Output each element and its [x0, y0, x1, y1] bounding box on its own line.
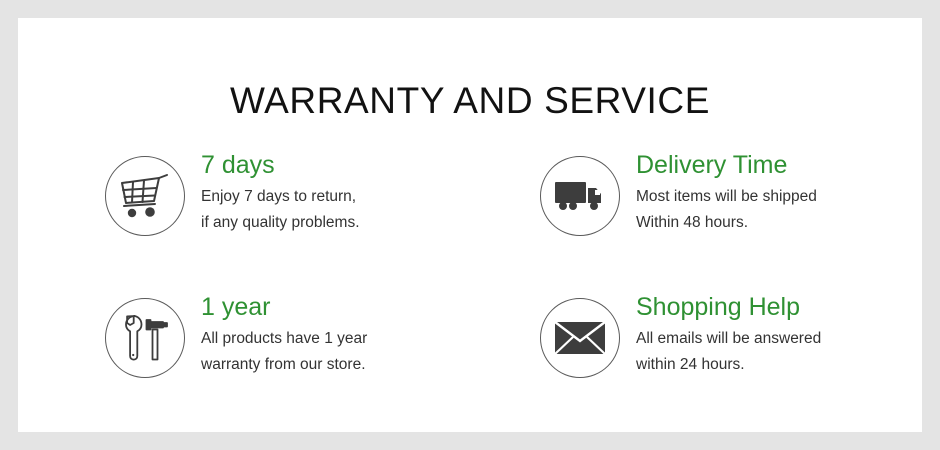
- delivery-truck-icon: [540, 156, 620, 236]
- feature-text: 1 year All products have 1 year warranty…: [201, 292, 505, 378]
- features-grid: 7 days Enjoy 7 days to return, if any qu…: [18, 150, 922, 434]
- feature-text: 7 days Enjoy 7 days to return, if any qu…: [201, 150, 505, 236]
- feature-card-1-year: 1 year All products have 1 year warranty…: [105, 292, 505, 434]
- feature-description-line: within 24 hours.: [636, 352, 922, 378]
- feature-heading: 7 days: [201, 150, 505, 180]
- feature-row: 7 days Enjoy 7 days to return, if any qu…: [18, 150, 922, 292]
- feature-heading: 1 year: [201, 292, 505, 322]
- feature-description-line: warranty from our store.: [201, 352, 505, 378]
- shopping-cart-icon: [105, 156, 185, 236]
- envelope-icon: [540, 298, 620, 378]
- outer-frame: WARRANTY AND SERVICE: [0, 0, 940, 450]
- feature-heading: Delivery Time: [636, 150, 922, 180]
- feature-description-line: All products have 1 year: [201, 326, 505, 352]
- page-title: WARRANTY AND SERVICE: [18, 80, 922, 122]
- feature-description-line: Within 48 hours.: [636, 210, 922, 236]
- feature-card-delivery-time: Delivery Time Most items will be shipped…: [540, 150, 922, 292]
- wrench-hammer-icon: [105, 298, 185, 378]
- feature-heading: Shopping Help: [636, 292, 922, 322]
- feature-description-line: Enjoy 7 days to return,: [201, 184, 505, 210]
- content-canvas: WARRANTY AND SERVICE: [18, 18, 922, 432]
- feature-card-shopping-help: Shopping Help All emails will be answere…: [540, 292, 922, 434]
- feature-text: Delivery Time Most items will be shipped…: [636, 150, 922, 236]
- feature-card-7-days: 7 days Enjoy 7 days to return, if any qu…: [105, 150, 505, 292]
- feature-description-line: All emails will be answered: [636, 326, 922, 352]
- feature-description-line: Most items will be shipped: [636, 184, 922, 210]
- feature-description-line: if any quality problems.: [201, 210, 505, 236]
- feature-text: Shopping Help All emails will be answere…: [636, 292, 922, 378]
- feature-row: 1 year All products have 1 year warranty…: [18, 292, 922, 434]
